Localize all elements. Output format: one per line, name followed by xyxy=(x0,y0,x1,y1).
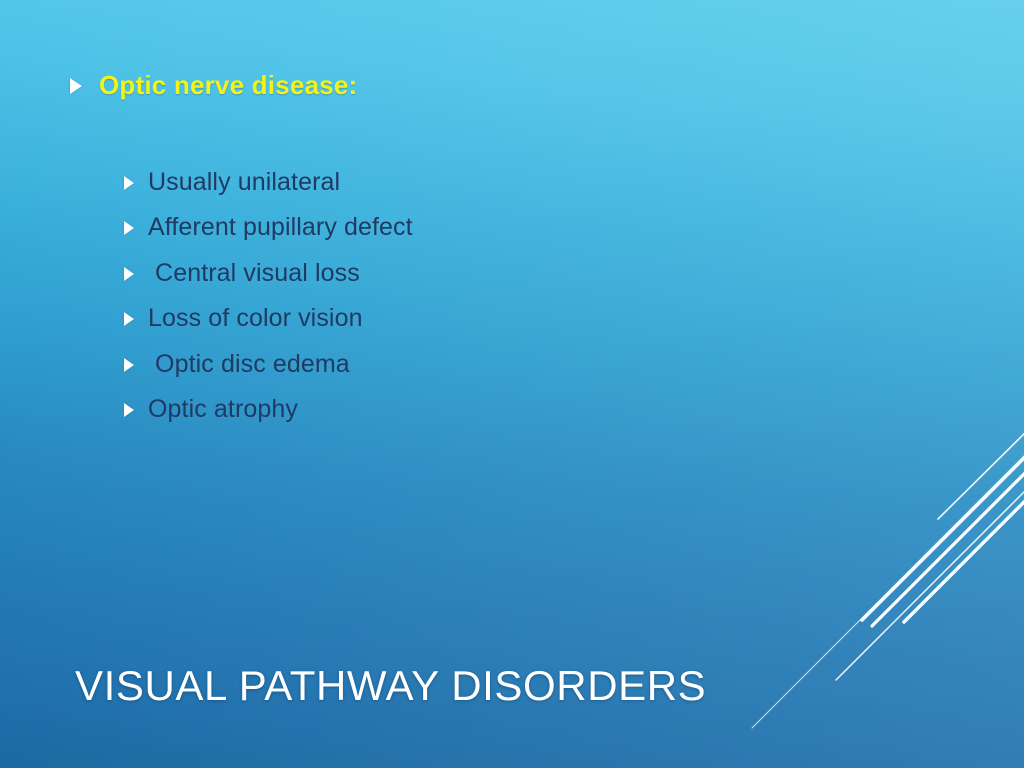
triangle-right-icon xyxy=(70,78,82,94)
diagonal-streaks-decoration xyxy=(0,0,1024,768)
bullet-text: Optic disc edema xyxy=(148,350,350,379)
triangle-right-icon xyxy=(124,403,134,417)
diagonal-streak-line xyxy=(836,486,1024,680)
presentation-slide: Optic nerve disease: Usually unilateralA… xyxy=(0,0,1024,768)
diagonal-streak-line xyxy=(862,452,1024,620)
diagonal-streak-line xyxy=(752,456,1024,728)
triangle-right-icon xyxy=(124,267,134,281)
bullet-text: Optic atrophy xyxy=(148,395,298,424)
triangle-right-icon xyxy=(124,176,134,190)
slide-title: VISUAL PATHWAY DISORDERS xyxy=(75,662,706,710)
triangle-right-icon xyxy=(124,221,134,235)
bullet-row: Optic disc edema xyxy=(124,350,350,379)
triangle-right-icon xyxy=(124,358,134,372)
diagonal-streak-line xyxy=(904,496,1024,622)
bullet-text: Usually unilateral xyxy=(148,168,340,197)
bullet-row: Optic atrophy xyxy=(124,395,298,424)
bullet-text: Afferent pupillary defect xyxy=(148,213,413,242)
heading-text: Optic nerve disease: xyxy=(99,70,357,101)
bullet-text: Central visual loss xyxy=(148,259,360,288)
diagonal-streak-line xyxy=(872,468,1024,626)
heading-bullet-row: Optic nerve disease: xyxy=(70,70,357,101)
bullet-row: Loss of color vision xyxy=(124,304,363,333)
bullet-row: Afferent pupillary defect xyxy=(124,213,413,242)
bullet-text: Loss of color vision xyxy=(148,304,363,333)
diagonal-streak-line xyxy=(938,428,1024,519)
bullet-row: Usually unilateral xyxy=(124,168,340,197)
triangle-right-icon xyxy=(124,312,134,326)
bullet-row: Central visual loss xyxy=(124,259,360,288)
